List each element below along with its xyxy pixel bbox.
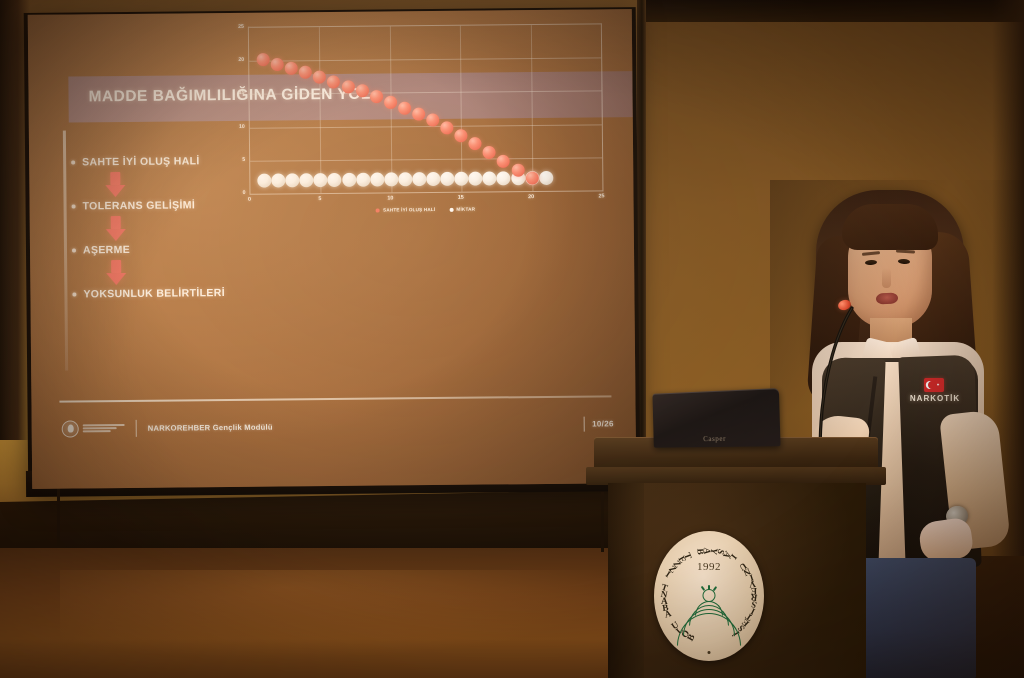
slide: MADDE BAĞIMLILIĞINA GİDEN YOL SAHTE İYİ … [28, 9, 637, 489]
page-number-divider [584, 416, 585, 431]
university-seal: BOLU ABANT İZZET BAYSAL ÜNİVERSİTESİ 199… [654, 531, 764, 661]
slide-page-number: 10/26 [592, 419, 614, 428]
chart-gridline-v [319, 27, 322, 193]
chart-data-point [356, 172, 370, 186]
chart-data-point [370, 172, 384, 186]
chart-y-tick-label: 5 [242, 157, 245, 163]
chart-gridline-v [390, 26, 393, 192]
eye-right [898, 259, 910, 265]
chart-plot-area [248, 23, 604, 194]
nose [882, 268, 891, 288]
bullet-dot-icon [72, 204, 76, 208]
chart-y-tick-label: 0 [243, 190, 246, 196]
chart-y-axis: 0510152025 [220, 27, 246, 193]
legend-label: MİKTAR [456, 207, 475, 212]
health-ministry-wordmark [83, 424, 125, 432]
chart-data-point [412, 107, 425, 120]
chart-data-point [469, 137, 482, 150]
slide-chart: 0510152025 0510152025 SAHTE İYİ OLUŞ HAL… [214, 15, 616, 235]
hair-fringe [842, 204, 938, 250]
slide-footer-divider [59, 395, 611, 402]
chart-data-point [455, 129, 468, 142]
chart-gridline-h [250, 157, 602, 161]
chart-data-point [483, 146, 496, 159]
chart-data-point [426, 172, 440, 186]
chart-data-point [370, 90, 383, 103]
chart-data-point [497, 155, 510, 168]
arrow-down-icon [72, 255, 252, 289]
chart-x-tick-label: 20 [528, 194, 534, 200]
chart-x-tick-label: 5 [318, 196, 321, 202]
chart-data-point [328, 173, 342, 187]
turkish-flag-icon [924, 378, 944, 392]
chart-data-point [440, 121, 453, 134]
screen-support-left [57, 486, 60, 546]
laptop-lid: Casper [652, 388, 780, 448]
chart-data-point [398, 101, 411, 114]
chart-gridline-h [250, 91, 602, 95]
chart-gridline-v [460, 26, 463, 192]
projection-screen-surface: MADDE BAĞIMLILIĞINA GİDEN YOL SAHTE İYİ … [28, 9, 637, 489]
chart-legend-item: SAHTE İYİ OLUŞ HALİ [376, 207, 435, 213]
chart-gridline-h [250, 124, 602, 128]
chart-data-point [412, 172, 426, 186]
chart-x-tick-label: 25 [598, 193, 604, 199]
laptop-brand-logo: Casper [654, 434, 781, 444]
chart-x-tick-label: 10 [387, 195, 393, 201]
bullet-label: SAHTE İYİ OLUŞ HALİ [82, 155, 200, 168]
chart-data-point [454, 171, 468, 185]
chart-y-tick-label: 10 [239, 123, 245, 129]
chart-legend-item: MİKTAR [449, 207, 475, 212]
floor-light-reflection [60, 570, 620, 660]
chart-data-point [426, 114, 439, 127]
right-wall-top-band [640, 0, 1024, 22]
chart-data-point [257, 53, 270, 66]
chart-y-tick-label: 20 [238, 57, 244, 63]
bullet-dot-icon [71, 160, 75, 164]
bullet-dot-icon [72, 292, 76, 296]
chart-data-point [356, 85, 369, 98]
chart-data-point [384, 172, 398, 186]
chart-data-point [483, 171, 497, 185]
chart-data-point [299, 66, 312, 79]
slide-footer: NARKOREHBER Gençlik Modülü 10/26 [62, 405, 614, 446]
chart-data-point [384, 96, 397, 109]
legend-marker-icon [449, 207, 453, 211]
chart-data-point [398, 172, 412, 186]
vest-label: NARKOTİK [900, 394, 970, 403]
presentation-photo: MADDE BAĞIMLILIĞINA GİDEN YOL SAHTE İYİ … [0, 0, 1024, 678]
lectern: BOLU ABANT İZZET BAYSAL ÜNİVERSİTESİ 199… [586, 437, 886, 678]
chart-data-point [286, 173, 300, 187]
chart-data-point [440, 172, 454, 186]
seal-character: T [682, 551, 694, 560]
chart-data-point [314, 173, 328, 187]
chart-gridline-v [530, 25, 533, 191]
university-emblem-icon [678, 585, 740, 637]
chart-data-point [469, 171, 483, 185]
chart-data-point [271, 57, 284, 70]
legend-marker-icon [376, 208, 380, 212]
chart-data-point [285, 61, 298, 74]
bullet-label: YOKSUNLUK BELİRTİLERİ [83, 287, 225, 300]
chart-data-point [257, 173, 271, 187]
chart-y-tick-label: 15 [239, 90, 245, 96]
chart-data-point [511, 164, 524, 177]
chart-data-point [539, 171, 553, 185]
chart-data-point [300, 173, 314, 187]
legend-label: SAHTE İYİ OLUŞ HALİ [383, 207, 435, 213]
laptop[interactable]: Casper [650, 391, 778, 449]
chart-y-tick-label: 25 [238, 24, 244, 30]
chart-data-point [341, 80, 354, 93]
slide-accent-bar [63, 131, 68, 371]
bullet-label: AŞERME [83, 244, 130, 256]
health-ministry-logo-icon [62, 420, 79, 437]
footer-module-title: NARKOREHBER Gençlik Modülü [148, 422, 273, 432]
chart-data-point [313, 71, 326, 84]
chart-data-point [327, 76, 340, 89]
chart-data-point [342, 172, 356, 186]
chart-data-point [271, 173, 285, 187]
chart-data-point [525, 171, 538, 184]
footer-divider-icon [136, 419, 137, 436]
chart-x-tick-label: 15 [458, 195, 464, 201]
chart-gridline-h [249, 58, 601, 62]
chart-data-point [497, 171, 511, 185]
bullet-dot-icon [72, 248, 76, 252]
university-seal-dot [708, 651, 711, 654]
bullet-label: TOLERANS GELİŞİMİ [83, 199, 196, 212]
chart-x-tick-label: 0 [248, 197, 251, 203]
university-seal-year: 1992 [654, 561, 764, 573]
list-item: YOKSUNLUK BELİRTİLERİ [72, 287, 252, 301]
